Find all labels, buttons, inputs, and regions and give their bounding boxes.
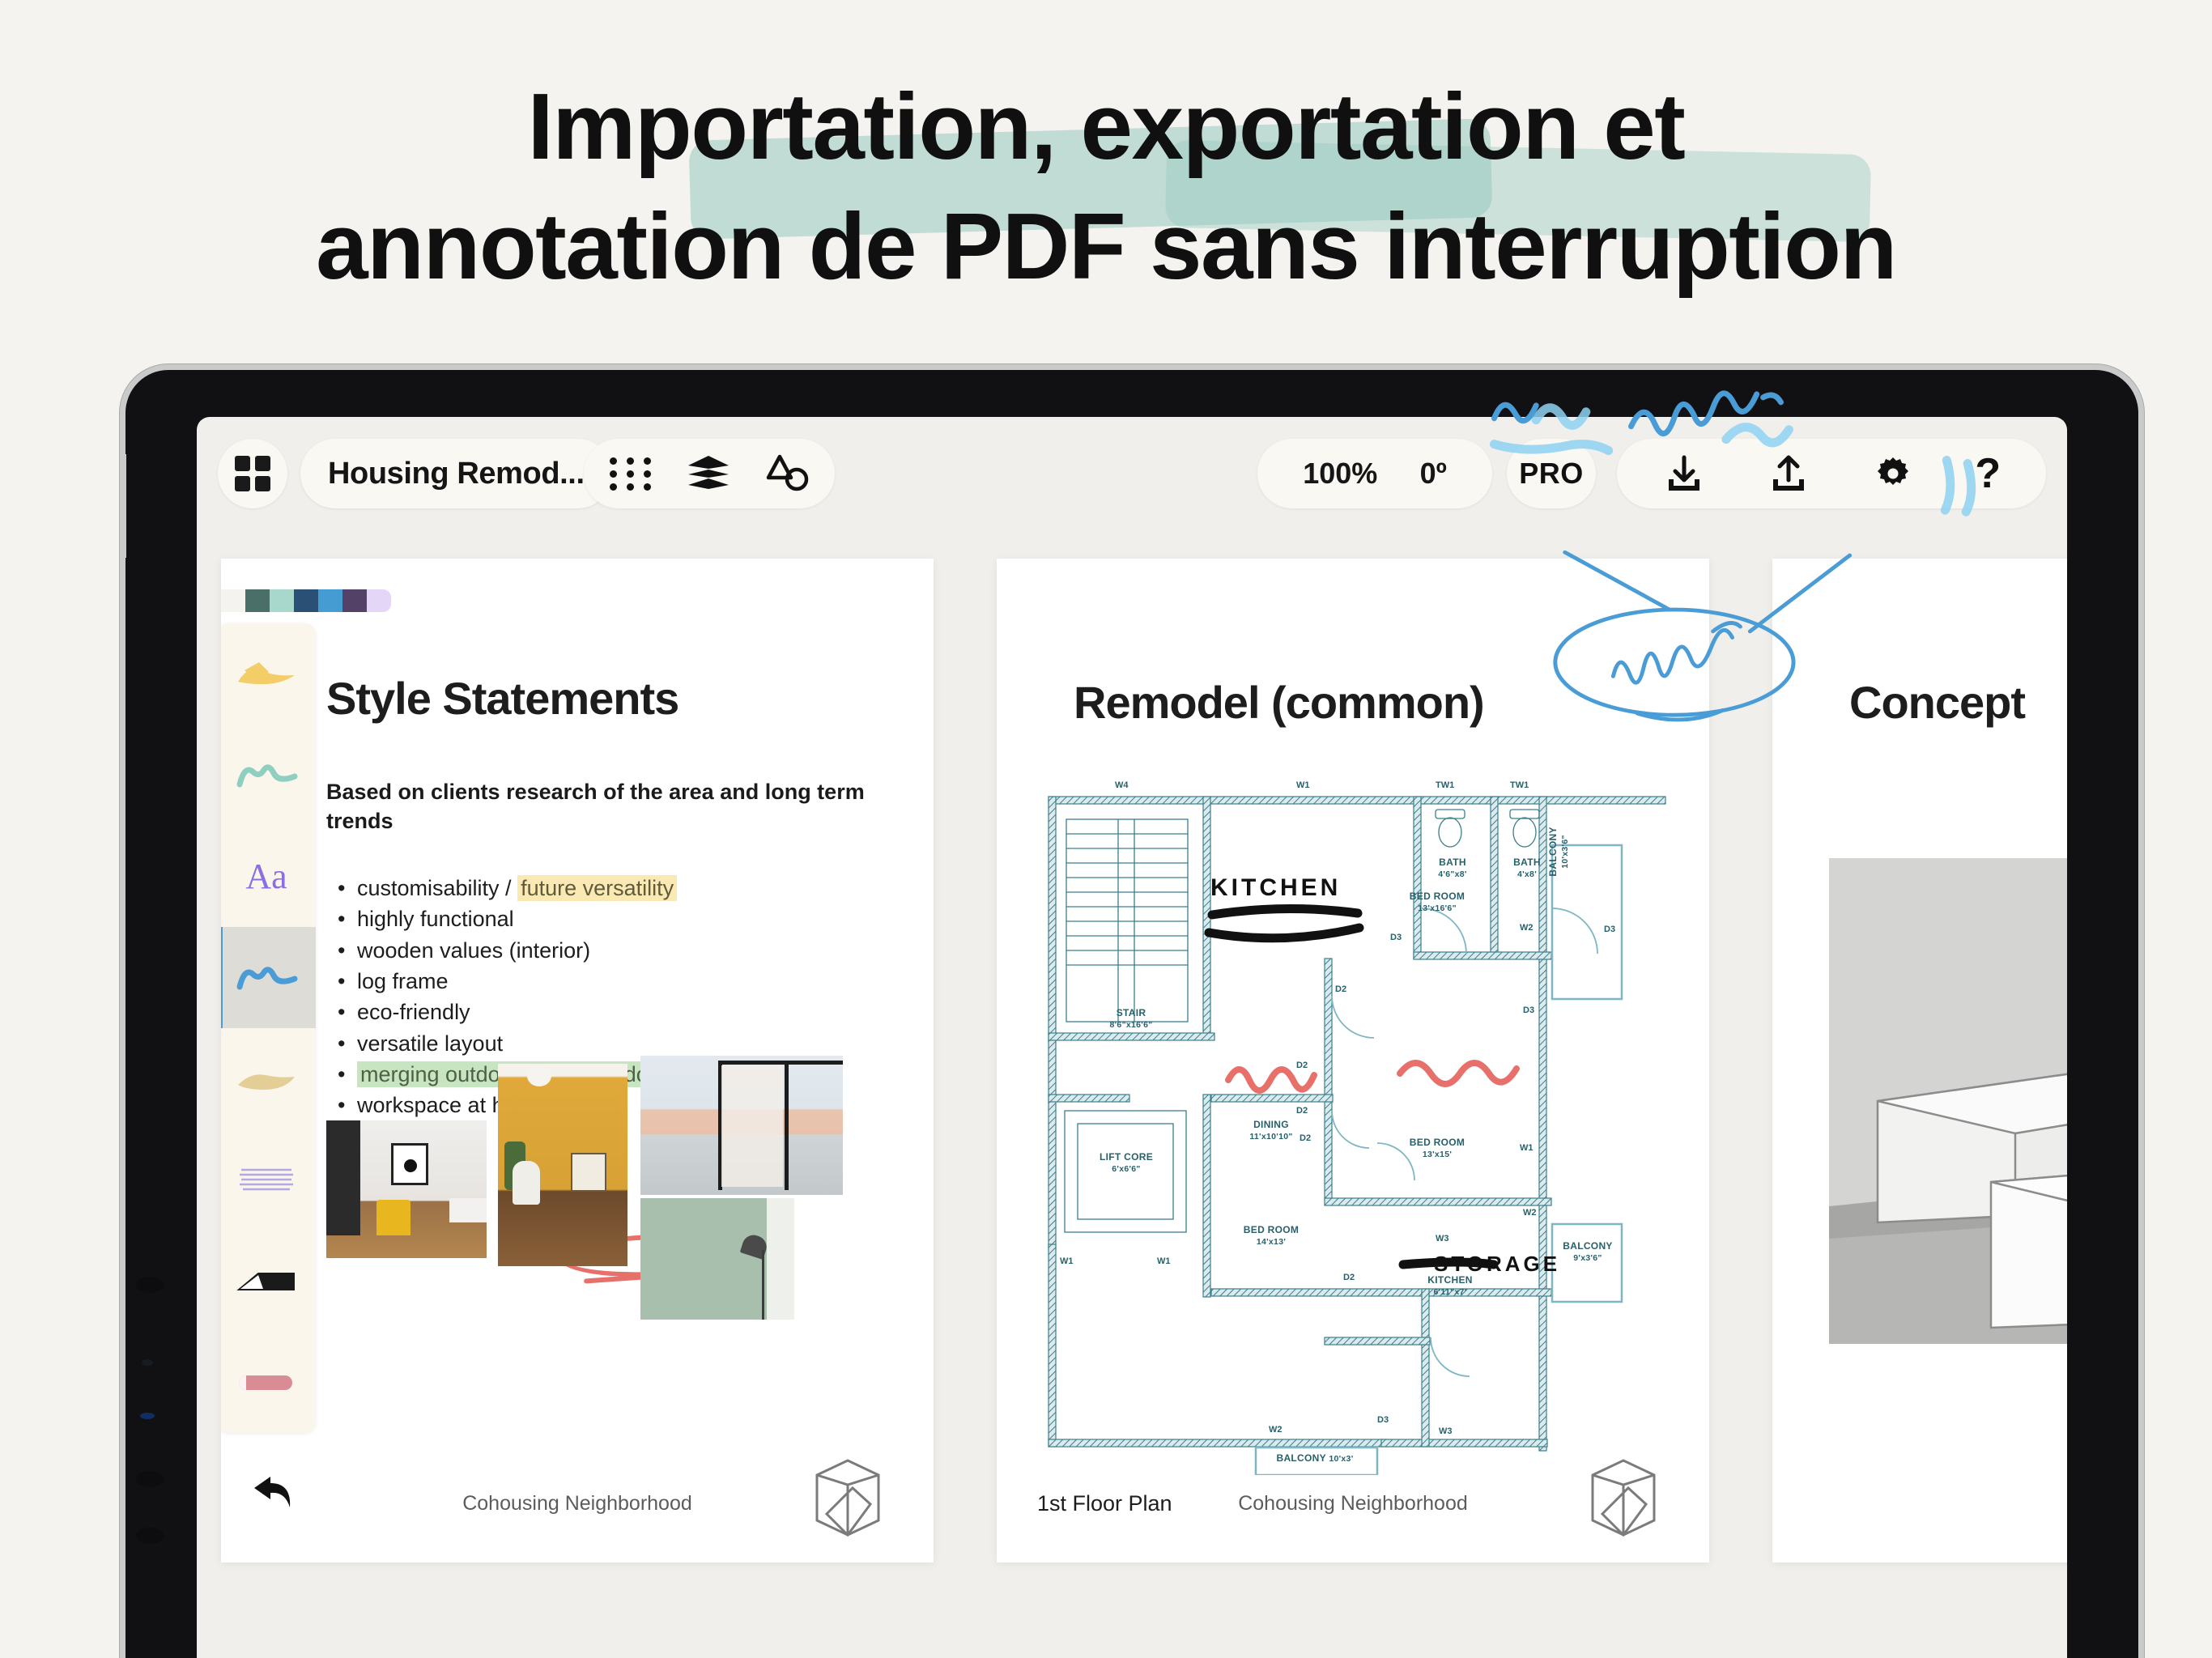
swatch-white[interactable] xyxy=(221,589,245,612)
concept-3d-render xyxy=(1829,858,2067,1344)
room-label-bath-1: BATH4'6"x8' xyxy=(1416,857,1489,879)
tablet-speaker-hole-1 xyxy=(136,1277,164,1293)
window-tag-w4: W4 xyxy=(1115,780,1129,790)
handwritten-storage-label: STORAGE xyxy=(1434,1252,1560,1277)
door-tag-d2-d: D2 xyxy=(1300,1133,1311,1143)
room-label-balcony-3: BALCONY 10'x3' xyxy=(1254,1452,1376,1464)
tool-highlighter-pink[interactable] xyxy=(221,1332,316,1433)
door-tag-d2-e: D2 xyxy=(1343,1273,1355,1282)
list-item: customisability / future versatility xyxy=(333,873,677,903)
door-tag-d2-a: D2 xyxy=(1335,984,1346,994)
window-tag-w2-a: W2 xyxy=(1520,923,1534,933)
page-card-remodel-common[interactable]: Remodel (common) xyxy=(997,559,1709,1562)
swatch-teal-dark[interactable] xyxy=(245,589,270,612)
photo-glass-partition-office xyxy=(640,1056,843,1195)
room-label-balcony-1: BALCONY 10'x3'6" xyxy=(1547,811,1570,892)
pro-badge-label: PRO xyxy=(1519,457,1584,491)
card1-document-body: Style Statements Based on clients resear… xyxy=(326,559,934,1562)
dot-grid-icon[interactable] xyxy=(608,451,653,496)
card3-footer: Co xyxy=(1772,1492,2067,1516)
tablet-speaker-hole-3 xyxy=(136,1528,164,1544)
window-tag-w3-b: W3 xyxy=(1439,1426,1453,1436)
room-label-bedroom-3: BED ROOM14'x13' xyxy=(1210,1224,1332,1247)
tool-marker-sand[interactable] xyxy=(221,1028,316,1129)
tool-sidebar[interactable]: Aa xyxy=(221,623,316,1433)
zoom-and-rotation-display[interactable]: 100% 0º xyxy=(1257,439,1492,508)
gear-icon[interactable] xyxy=(1872,453,1914,495)
brand-logo-icon-2 xyxy=(1586,1457,1661,1538)
tablet-status-led xyxy=(140,1413,155,1419)
list-item: wooden values (interior) xyxy=(333,935,677,966)
view-tools-group xyxy=(584,439,835,508)
handwritten-kitchen-label: KITCHEN xyxy=(1210,874,1341,902)
list-item: log frame xyxy=(333,966,677,997)
window-tag-w1-a: W1 xyxy=(1296,780,1310,790)
grid-view-button[interactable] xyxy=(218,439,287,508)
headline-line-2: annotation de PDF sans interruption xyxy=(316,186,1896,306)
undo-button[interactable] xyxy=(249,1472,298,1516)
page-card-style-statements[interactable]: Aa xyxy=(221,559,934,1562)
tool-text[interactable]: Aa xyxy=(221,826,316,927)
list-item: eco-friendly xyxy=(333,997,677,1027)
window-tag-w2-b: W2 xyxy=(1269,1425,1283,1435)
photo-green-wall-lamp xyxy=(640,1198,794,1320)
tablet-power-button[interactable] xyxy=(120,454,126,558)
layers-icon[interactable] xyxy=(685,453,732,495)
room-label-dining: DINING11'x10'10" xyxy=(1210,1119,1332,1141)
door-tag-d3-a: D3 xyxy=(1390,933,1402,942)
floor-plan-drawing: STAIR8'6"x16'6" BATH4'6"x8' BATH4'x8' BE… xyxy=(1037,771,1677,1475)
card1-intro-text: Based on clients research of the area an… xyxy=(326,777,893,836)
window-tag-w1-d: W1 xyxy=(1157,1256,1171,1266)
door-tag-d3-c: D3 xyxy=(1523,1005,1534,1015)
swatch-mint[interactable] xyxy=(270,589,294,612)
tool-pen-blue[interactable] xyxy=(221,927,316,1028)
window-tag-tw1-a: TW1 xyxy=(1436,780,1454,790)
headline-line-1: Importation, exportation et xyxy=(316,66,1896,186)
pro-badge-button[interactable]: PRO xyxy=(1507,439,1596,508)
tablet-front-camera xyxy=(142,1359,153,1366)
door-tag-d2-b: D2 xyxy=(1296,1061,1308,1070)
door-tag-d3-d: D3 xyxy=(1377,1415,1389,1425)
card2-title: Remodel (common) xyxy=(1074,676,1484,729)
window-tag-w2-c: W2 xyxy=(1523,1208,1537,1218)
app-toolbar: Housing Remod... xyxy=(197,417,2067,538)
zoom-level-value: 100% xyxy=(1303,457,1377,491)
highlight-future-versatility: future versatility xyxy=(517,875,677,901)
tablet-speaker-hole-2 xyxy=(136,1471,164,1487)
mood-board-collage xyxy=(326,1054,844,1321)
page-card-concept[interactable]: Concept xyxy=(1772,559,2067,1562)
document-title-label: Housing Remod... xyxy=(328,457,585,491)
window-tag-tw1-b: TW1 xyxy=(1510,780,1529,790)
tool-lines[interactable] xyxy=(221,1129,316,1231)
tool-highlighter-yellow[interactable] xyxy=(221,623,316,725)
brand-logo-icon xyxy=(810,1457,885,1538)
window-tag-w1-b: W1 xyxy=(1520,1143,1534,1153)
tablet-screen: Housing Remod... xyxy=(197,417,2067,1658)
headline-text: Importation, exportation et annotation d… xyxy=(316,66,1896,307)
room-label-kitchen: KITCHEN6'11"x7' xyxy=(1402,1274,1499,1297)
door-tag-d3-b: D3 xyxy=(1604,925,1615,934)
room-label-stair: STAIR8'6"x16'6" xyxy=(1074,1007,1188,1030)
tool-pen-mint[interactable] xyxy=(221,725,316,826)
tool-eraser[interactable] xyxy=(221,1231,316,1332)
upload-icon[interactable] xyxy=(1767,452,1810,495)
photo-yellow-wall-room xyxy=(498,1064,627,1266)
swatch-navy[interactable] xyxy=(294,589,318,612)
room-label-balcony-2: BALCONY9'x3'6" xyxy=(1557,1240,1619,1263)
shape-tool-icon[interactable] xyxy=(764,452,810,495)
window-tag-w3-a: W3 xyxy=(1436,1234,1449,1243)
document-canvas[interactable]: Aa xyxy=(197,538,2067,1658)
room-label-bedroom-1: BED ROOM13'x16'6" xyxy=(1364,891,1510,913)
door-tag-d2-c: D2 xyxy=(1296,1106,1308,1116)
window-tag-w1-c: W1 xyxy=(1060,1256,1074,1266)
card3-title: Concept xyxy=(1849,676,2025,729)
card1-title: Style Statements xyxy=(326,672,678,725)
photo-living-room-yellow-chair xyxy=(326,1120,487,1258)
tool-text-label: Aa xyxy=(245,856,287,897)
rotation-value: 0º xyxy=(1420,457,1447,491)
grid-icon xyxy=(235,456,270,491)
question-mark-icon[interactable]: ? xyxy=(1975,453,2001,495)
actions-group: ? xyxy=(1617,439,2046,508)
room-label-lift-core: LIFT CORE6'x6'6" xyxy=(1073,1151,1180,1174)
list-item: highly functional xyxy=(333,903,677,934)
download-icon[interactable] xyxy=(1662,452,1706,495)
tablet-device-frame: Housing Remod... xyxy=(120,364,2144,1658)
document-title-button[interactable]: Housing Remod... xyxy=(300,439,612,508)
page-headline: Importation, exportation et annotation d… xyxy=(0,66,2212,307)
room-label-bedroom-2: BED ROOM13'x15' xyxy=(1364,1137,1510,1159)
